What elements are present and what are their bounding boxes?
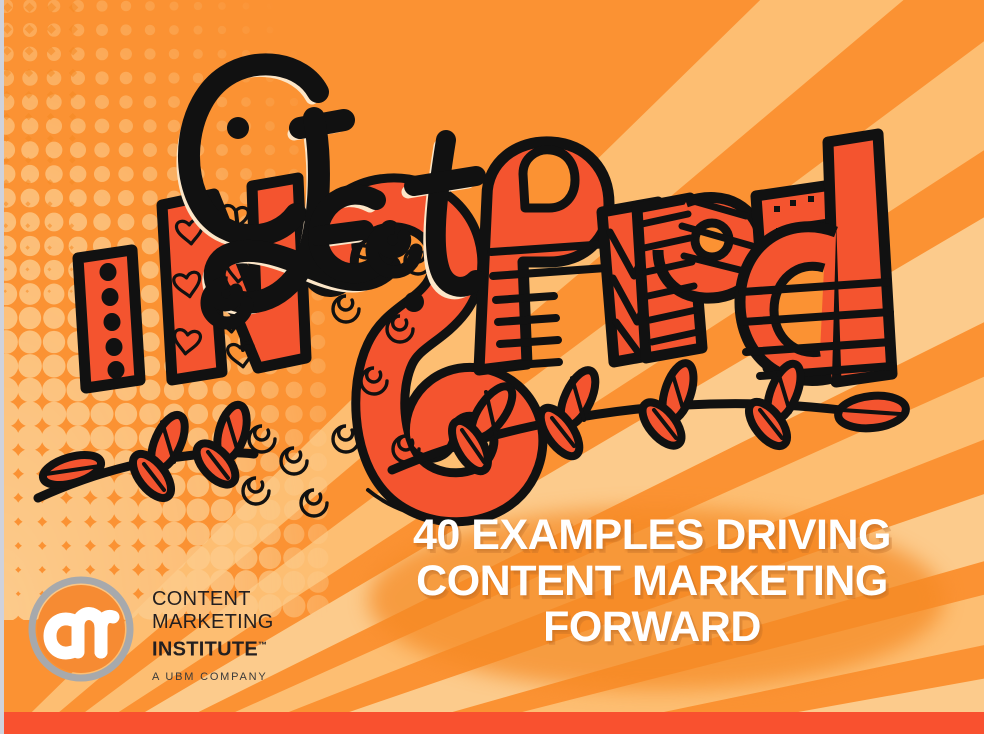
script-word-get [183, 64, 476, 323]
logo-institute-word: INSTITUTE [152, 639, 258, 661]
vine-left-leaves [40, 402, 253, 505]
subtitle-block: 40 EXAMPLES DRIVING CONTENT MARKETING FO… [352, 512, 952, 650]
letter-D-stripes [740, 134, 892, 382]
subtitle-line-3: FORWARD [352, 604, 952, 650]
letter-I-dots [78, 250, 140, 388]
cmi-logo-mark [28, 576, 134, 682]
logo-line-marketing: MARKETING [152, 611, 274, 634]
cm-monogram-icon [28, 576, 134, 682]
logo-line-institute: INSTITUTE™ [152, 634, 274, 662]
letter-P-stripes [479, 142, 609, 370]
bottom-accent-bar [0, 712, 984, 734]
logo-line-content: CONTENT [152, 588, 274, 611]
poster-canvas: 40 EXAMPLES DRIVING CONTENT MARKETING FO… [0, 0, 984, 734]
left-edge-strip [0, 0, 4, 734]
cmi-logo-text: CONTENT MARKETING INSTITUTE™ A UBM COMPA… [152, 576, 274, 683]
cmi-logo: CONTENT MARKETING INSTITUTE™ A UBM COMPA… [28, 576, 274, 683]
subtitle-line-2: CONTENT MARKETING [352, 558, 952, 604]
subtitle-line-1: 40 EXAMPLES DRIVING [352, 512, 952, 558]
logo-tagline: A UBM COMPANY [152, 671, 274, 683]
trademark-symbol: ™ [258, 640, 267, 650]
